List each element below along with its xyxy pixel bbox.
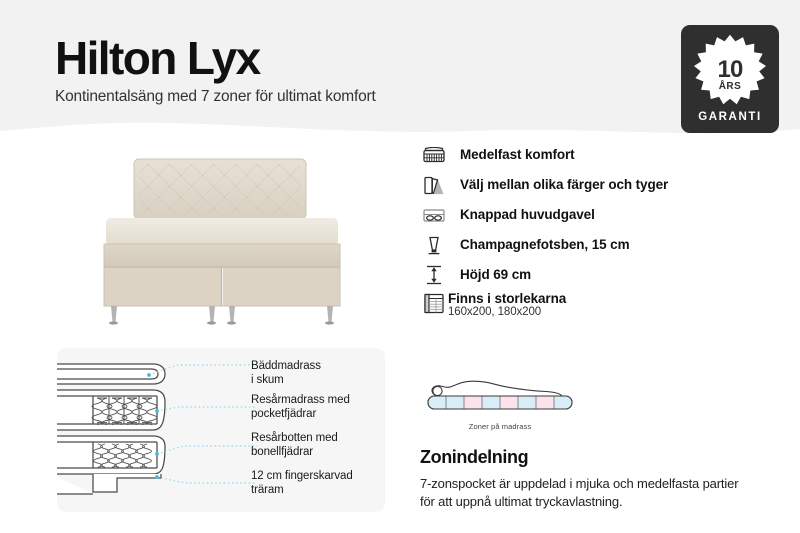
feature-sublabel: 160x200, 180x200 bbox=[448, 305, 566, 319]
product-image-continental-bed bbox=[82, 142, 362, 337]
zone-diagram-caption: Zoner på madrass bbox=[420, 422, 580, 431]
bed-base-upper bbox=[104, 244, 340, 268]
zone-segments bbox=[428, 396, 572, 409]
zone-section-title: Zonindelning bbox=[420, 447, 780, 468]
zone-section: Zoner på madrass Zonindelning 7-zonspock… bbox=[420, 372, 780, 511]
feature-label: Välj mellan olika färger och tyger bbox=[460, 172, 668, 198]
page-subtitle: Kontinentalsäng med 7 zoner för ultimat … bbox=[55, 88, 376, 106]
layer-label-pocket: Resårmadrass med pocketfjädrar bbox=[251, 394, 350, 421]
bed-legs bbox=[111, 306, 333, 322]
feature-row-height: Höjd 69 cm bbox=[420, 260, 780, 290]
feature-label: Medelfast komfort bbox=[460, 142, 575, 168]
mattress-zones-diagram bbox=[420, 372, 580, 420]
mattress-layers-diagram bbox=[57, 352, 257, 508]
height-arrow-icon bbox=[420, 262, 448, 288]
layers-panel: Bäddmadrass i skum Resårmadrass med pock… bbox=[57, 348, 385, 512]
bed-leg-icon bbox=[420, 232, 448, 258]
feature-label: Höjd 69 cm bbox=[460, 262, 531, 288]
guarantee-badge: 10 ÅRS GARANTI bbox=[681, 25, 779, 133]
badge-warranty-label: GARANTI bbox=[681, 111, 779, 123]
tufted-headboard-icon bbox=[420, 202, 448, 228]
badge-years-number: 10 bbox=[681, 58, 779, 82]
zone-section-body: 7-zonspocket är uppdelad i mjuka och med… bbox=[420, 475, 750, 511]
leader-lines bbox=[149, 365, 257, 483]
feature-row-colors: Välj mellan olika färger och tyger bbox=[420, 170, 780, 200]
bed-base-left bbox=[104, 268, 221, 306]
bed-size-icon bbox=[420, 290, 448, 316]
feature-row-headboard: Knappad huvudgavel bbox=[420, 200, 780, 230]
feature-row-legs: Champagnefotsben, 15 cm bbox=[420, 230, 780, 260]
feature-label: Knappad huvudgavel bbox=[460, 202, 595, 228]
mattress-springs-icon bbox=[420, 142, 448, 168]
feature-list: Medelfast komfort Välj mellan olika färg… bbox=[420, 140, 780, 330]
layer-label-frame: 12 cm fingerskarvad träram bbox=[251, 470, 353, 497]
bed-base-right bbox=[223, 268, 340, 306]
color-swatches-icon bbox=[420, 172, 448, 198]
badge-years-unit: ÅRS bbox=[681, 82, 779, 92]
feature-label: Champagnefotsben, 15 cm bbox=[460, 232, 630, 258]
page-title: Hilton Lyx bbox=[55, 32, 260, 84]
layer-label-bonell: Resårbotten med bonellfjädrar bbox=[251, 432, 338, 459]
feature-row-sizes: Finns i storlekarna 160x200, 180x200 bbox=[420, 290, 780, 330]
layer-label-topper: Bäddmadrass i skum bbox=[251, 360, 321, 387]
sleeping-figure bbox=[432, 381, 562, 396]
feature-row-comfort: Medelfast komfort bbox=[420, 140, 780, 170]
